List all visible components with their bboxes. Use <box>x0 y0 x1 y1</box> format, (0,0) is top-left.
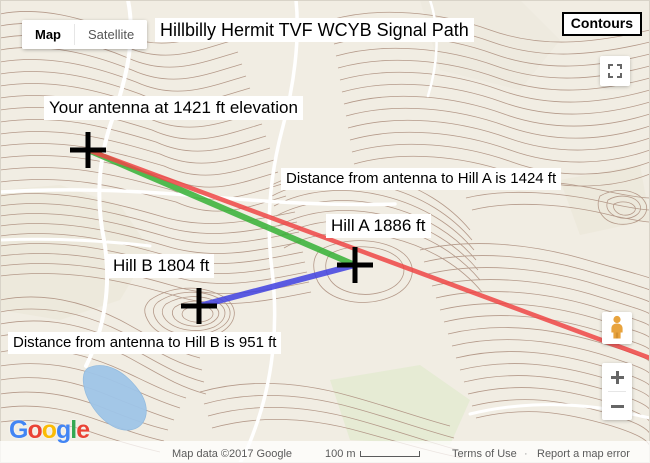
map-title-label: Hillbilly Hermit TVF WCYB Signal Path <box>155 18 474 42</box>
hill-a-elevation-label: Hill A 1886 ft <box>326 214 431 238</box>
zoom-out-button[interactable] <box>602 392 632 420</box>
footer-separator: · <box>524 448 528 460</box>
contours-toggle-button[interactable]: Contours <box>562 12 642 36</box>
fullscreen-button[interactable] <box>600 56 630 86</box>
map-data-attribution: Map data ©2017 Google <box>172 448 292 460</box>
pegman-icon <box>607 315 627 341</box>
map-type-control[interactable]: Map Satellite <box>22 20 147 49</box>
map-scale-indicator: 100 m <box>325 448 420 460</box>
antenna-elevation-label: Your antenna at 1421 ft elevation <box>44 96 303 120</box>
distance-to-hill-a-label: Distance from antenna to Hill A is 1424 … <box>281 168 561 190</box>
plus-icon-vertical <box>616 371 619 384</box>
terms-of-use-link[interactable]: Terms of Use <box>452 448 517 460</box>
scale-bar-graphic <box>360 451 420 457</box>
map-application: Hillbilly Hermit TVF WCYB Signal Path Yo… <box>0 0 650 463</box>
scale-label: 100 m <box>325 448 356 460</box>
zoom-in-button[interactable] <box>602 363 632 391</box>
minus-icon <box>611 405 624 408</box>
street-view-pegman-button[interactable] <box>602 312 632 344</box>
terrain-map-graphic[interactable] <box>0 0 650 463</box>
distance-to-hill-b-label: Distance from antenna to Hill B is 951 f… <box>8 332 281 354</box>
report-map-error-link[interactable]: Report a map error <box>537 448 630 460</box>
google-logo: Google <box>9 416 89 445</box>
fullscreen-expand-icon <box>600 56 630 86</box>
zoom-control[interactable] <box>602 363 632 420</box>
map-type-map-button[interactable]: Map <box>22 20 74 49</box>
hill-b-elevation-label: Hill B 1804 ft <box>108 254 214 278</box>
map-canvas[interactable] <box>0 0 650 463</box>
map-type-satellite-button[interactable]: Satellite <box>75 20 147 49</box>
